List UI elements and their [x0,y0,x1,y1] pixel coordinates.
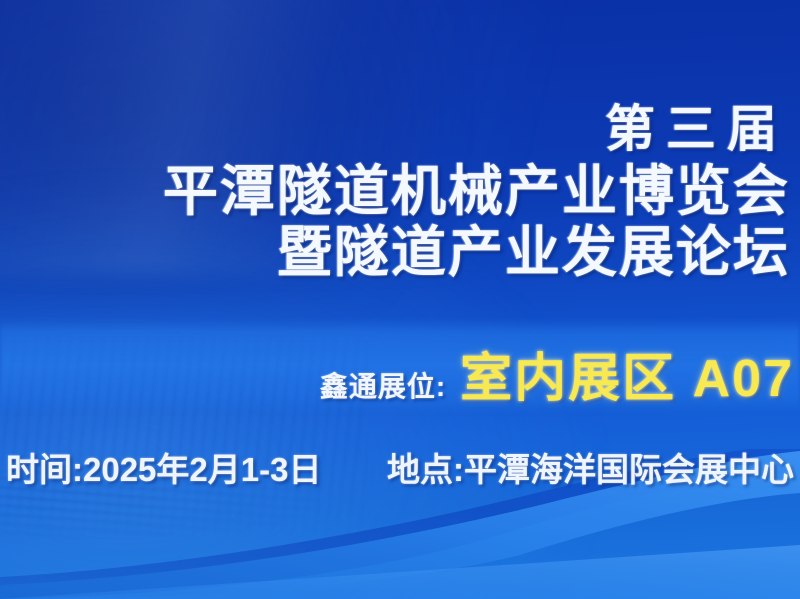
exhibition-banner: 第三届 平潭隧道机械产业博览会 暨隧道产业发展论坛 鑫通展位: 室内展区 A07… [0,0,800,599]
title-line-edition: 第三届 [163,104,792,154]
title-line-main: 平潭隧道机械产业博览会 [163,164,792,219]
event-details-row: 时间:2025年2月1-3日 地点:平潭海洋国际会展中心 [6,443,794,491]
title-line-forum: 暨隧道产业发展论坛 [163,225,792,280]
booth-number: 室内展区 A07 [460,336,794,411]
event-venue: 地点:平潭海洋国际会展中心 [387,443,794,491]
banner-content: 第三届 平潭隧道机械产业博览会 暨隧道产业发展论坛 鑫通展位: 室内展区 A07… [0,0,800,599]
booth-label: 鑫通展位: [320,365,446,405]
booth-info-row: 鑫通展位: 室内展区 A07 [320,336,794,411]
event-date: 时间:2025年2月1-3日 [6,443,321,491]
event-title-block: 第三届 平潭隧道机械产业博览会 暨隧道产业发展论坛 [163,104,792,280]
